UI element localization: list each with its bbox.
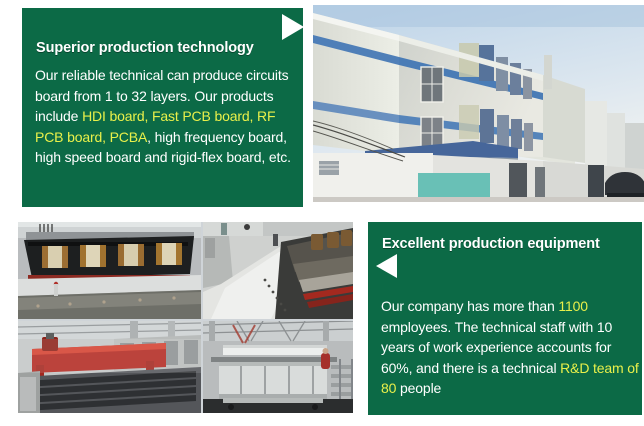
equipment-panel-title: Excellent production equipment <box>382 236 600 252</box>
factory-conveyor-aisle-photo <box>203 222 353 319</box>
equipment-panel: Excellent production equipment Our compa… <box>368 222 642 415</box>
production-equipment-collage <box>18 222 353 413</box>
pcb-plating-line-graphic <box>18 222 201 319</box>
pcb-plating-line-photo <box>18 222 201 319</box>
equipment-text-part-3: people <box>396 380 441 396</box>
technology-panel-title: Superior production technology <box>36 40 254 56</box>
electroplating-tank-rack-photo <box>203 321 353 413</box>
technology-panel: Superior production technology Our relia… <box>22 8 303 207</box>
technology-panel-body: Our reliable technical can produce circu… <box>35 65 301 168</box>
equipment-text-highlight-employees: 1100 <box>558 298 588 314</box>
electroplating-tank-rack-graphic <box>203 321 353 413</box>
triangle-right-icon[interactable] <box>282 14 303 40</box>
red-gantry-plating-machine-photo <box>18 321 201 413</box>
equipment-text-part-1: Our company has more than <box>381 298 558 314</box>
red-gantry-plating-machine-graphic <box>18 321 201 413</box>
building-photo-graphic <box>313 5 644 202</box>
factory-building-exterior-photo <box>313 5 644 202</box>
page-root: Superior production technology Our relia… <box>0 0 644 426</box>
triangle-left-icon[interactable] <box>376 254 397 278</box>
factory-conveyor-aisle-graphic <box>203 222 353 319</box>
equipment-panel-body: Our company has more than 1100 employees… <box>381 296 639 399</box>
